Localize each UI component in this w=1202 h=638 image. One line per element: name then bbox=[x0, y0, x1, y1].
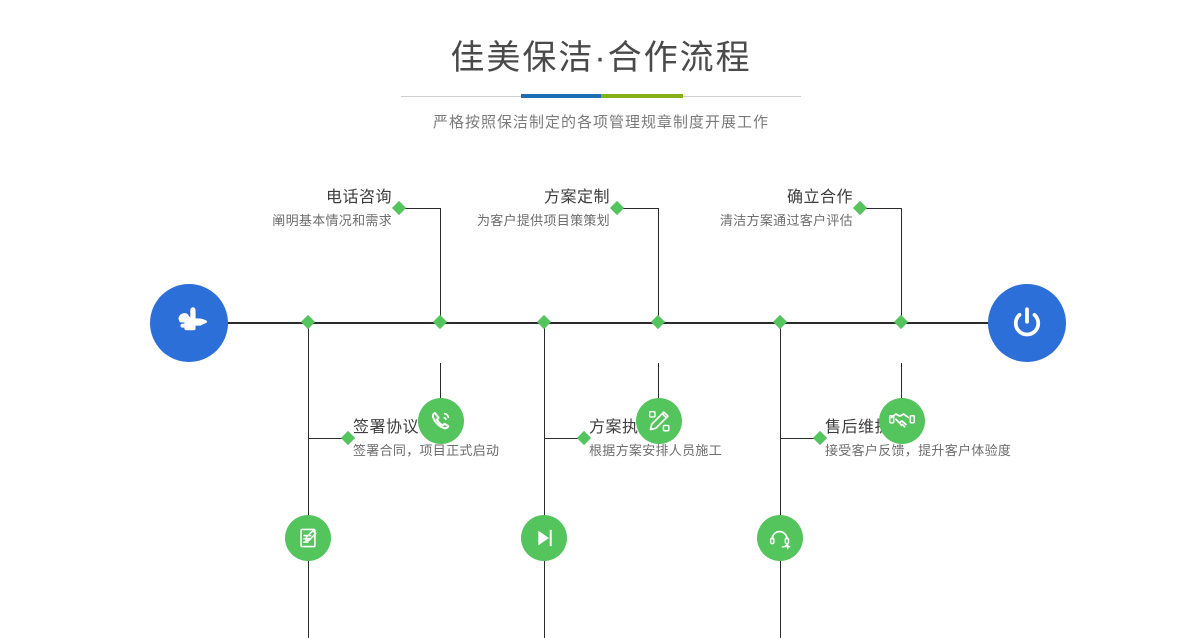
connector-diamond-5 bbox=[853, 201, 867, 215]
step-node-1[interactable] bbox=[418, 398, 464, 444]
axis-diamond-1 bbox=[433, 315, 447, 329]
step-node-3[interactable] bbox=[636, 398, 682, 444]
connector-vline-2 bbox=[308, 324, 309, 516]
page-subtitle: 严格按照保洁制定的各项管理规章制度开展工作 bbox=[0, 112, 1202, 134]
step-desc-2: 签署合同，项目正式启动 bbox=[353, 441, 613, 461]
divider-segment-blue bbox=[521, 94, 601, 98]
axis-diamond-4 bbox=[537, 315, 551, 329]
step-label-6: 售后维护 接受客户反馈，提升客户体验度 bbox=[825, 417, 1125, 461]
step-desc-1: 阐明基本情况和需求 bbox=[160, 211, 392, 231]
step-label-4: 方案执行 根据方案安排人员施工 bbox=[589, 417, 849, 461]
document-signing-icon bbox=[295, 525, 321, 551]
divider-segment-green bbox=[601, 94, 683, 98]
title-divider bbox=[401, 90, 801, 104]
page-header: 佳美保洁·合作流程 严格按照保洁制定的各项管理规章制度开展工作 bbox=[0, 36, 1202, 134]
process-flow-page: 佳美保洁·合作流程 严格按照保洁制定的各项管理规章制度开展工作 bbox=[0, 0, 1202, 502]
step-title-3: 方案定制 bbox=[370, 187, 610, 209]
page-title: 佳美保洁·合作流程 bbox=[0, 36, 1202, 80]
step-label-2: 签署协议 签署合同，项目正式启动 bbox=[353, 417, 613, 461]
step-label-3: 方案定制 为客户提供项目策策划 bbox=[370, 187, 610, 231]
axis-diamond-5 bbox=[894, 315, 908, 329]
connector-vline-3 bbox=[658, 363, 659, 399]
axis-diamond-2 bbox=[301, 315, 315, 329]
step-desc-4: 根据方案安排人员施工 bbox=[589, 441, 849, 461]
step-node-2[interactable] bbox=[285, 515, 331, 561]
step-node-5[interactable] bbox=[879, 398, 925, 444]
step-title-1: 电话咨询 bbox=[160, 187, 392, 209]
connector-vline-1 bbox=[440, 363, 441, 399]
step-title-6: 售后维护 bbox=[825, 417, 1125, 439]
axis-diamond-6 bbox=[773, 315, 787, 329]
step-title-2: 签署协议 bbox=[353, 417, 613, 439]
axis-diamond-3 bbox=[651, 315, 665, 329]
step-label-5: 确立合作 清洁方案通过客户评估 bbox=[613, 187, 853, 231]
step-title-4: 方案执行 bbox=[589, 417, 849, 439]
step-desc-6: 接受客户反馈，提升客户体验度 bbox=[825, 441, 1125, 461]
connector-vline-4b bbox=[544, 560, 545, 638]
step-node-6[interactable] bbox=[757, 515, 803, 561]
pencil-ruler-icon bbox=[646, 408, 672, 434]
handshake-icon bbox=[888, 407, 916, 435]
step-title-5: 确立合作 bbox=[613, 187, 853, 209]
timeline-end-endpoint bbox=[988, 284, 1066, 362]
step-node-4[interactable] bbox=[521, 515, 567, 561]
step-desc-3: 为客户提供项目策策划 bbox=[370, 211, 610, 231]
step-desc-5: 清洁方案通过客户评估 bbox=[613, 211, 853, 231]
connector-vline-6b bbox=[780, 560, 781, 638]
hand-pointing-right-icon bbox=[168, 302, 210, 344]
connector-vline-5 bbox=[901, 363, 902, 399]
power-button-icon bbox=[1007, 303, 1047, 343]
timeline: 电话咨询 阐明基本情况和需求 签署协议 签署合同，项目正式启动 bbox=[0, 160, 1202, 490]
connector-vline-5b bbox=[901, 208, 902, 323]
phone-call-icon bbox=[428, 408, 454, 434]
step-label-1: 电话咨询 阐明基本情况和需求 bbox=[160, 187, 392, 231]
timeline-start-endpoint bbox=[150, 284, 228, 362]
customer-service-add-icon bbox=[767, 525, 793, 551]
play-forward-icon bbox=[531, 525, 557, 551]
connector-vline-2b bbox=[308, 560, 309, 638]
